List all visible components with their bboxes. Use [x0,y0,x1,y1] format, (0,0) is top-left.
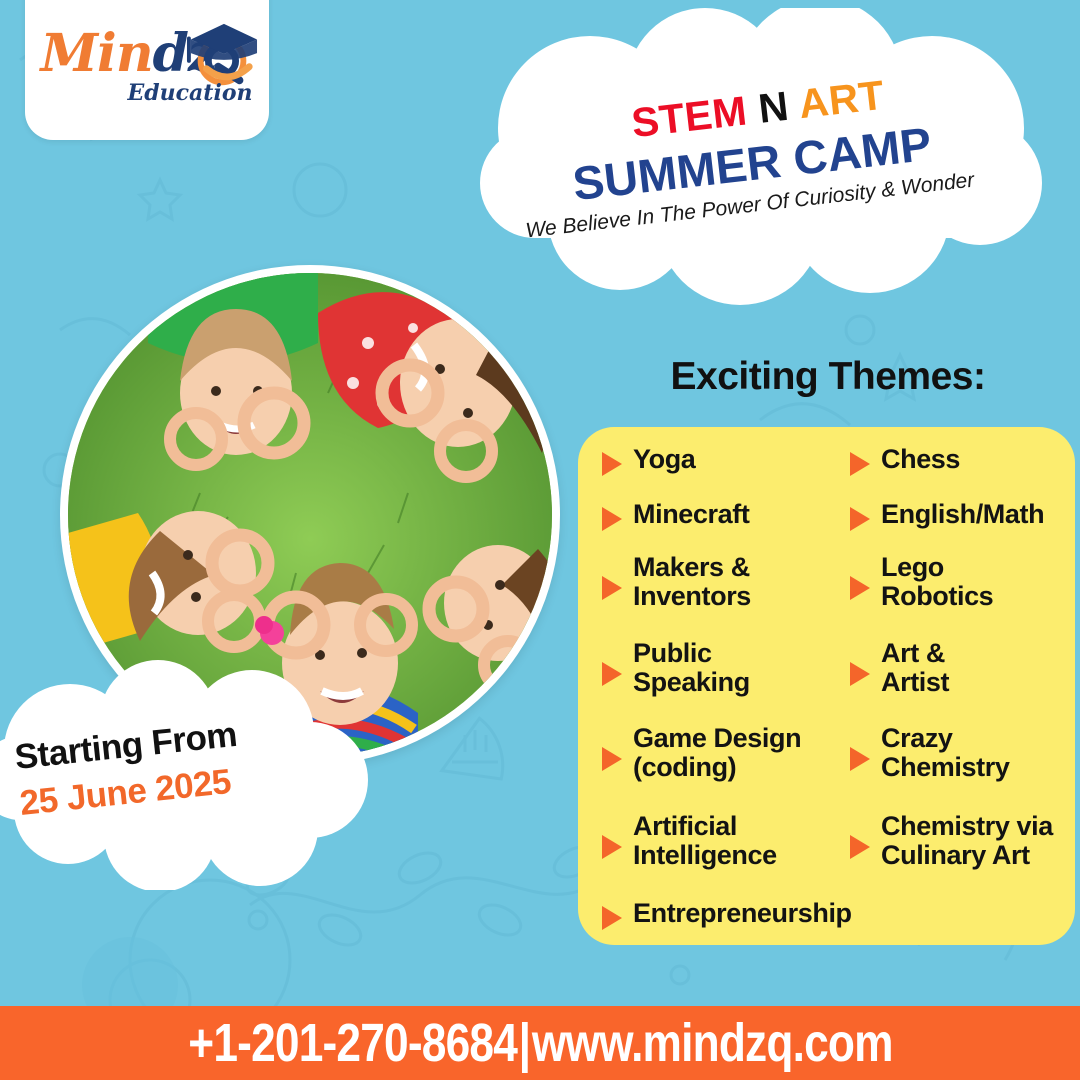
theme-label: Crazy Chemistry [881,724,1009,782]
theme-label: Yoga [633,445,695,474]
themes-right-column: Chess English/Math Lego Robotics Art & A… [850,427,1068,945]
triangle-bullet-icon [602,507,622,531]
footer-separator: | [517,1013,532,1073]
start-date-cloud: Starting From 25 June 2025 [0,660,380,890]
contact-footer-bar: +1-201-270-8684|www.mindzq.com [0,1006,1080,1080]
triangle-bullet-icon [602,747,622,771]
triangle-bullet-icon [602,452,622,476]
theme-item-artificial-intelligence[interactable]: Artificial Intelligence [602,812,777,870]
theme-item-crazy-chemistry[interactable]: Crazy Chemistry [850,724,1009,782]
theme-item-makers-inventors[interactable]: Makers & Inventors [602,553,751,611]
theme-label: Chemistry via Culinary Art [881,812,1053,870]
triangle-bullet-icon [850,507,870,531]
theme-label: Entrepreneurship [633,899,852,928]
theme-label: Lego Robotics [881,553,993,611]
website-url[interactable]: www.mindzq.com [531,1013,892,1073]
theme-label: Game Design (coding) [633,724,801,782]
triangle-bullet-icon [850,452,870,476]
theme-item-chemistry-culinary-art[interactable]: Chemistry via Culinary Art [850,812,1053,870]
theme-item-lego-robotics[interactable]: Lego Robotics [850,553,993,611]
theme-label: Art & Artist [881,639,949,697]
themes-heading: Exciting Themes: [583,355,1073,399]
themes-panel: Yoga Minecraft Makers & Inventors Public… [578,427,1075,945]
triangle-bullet-icon [850,576,870,600]
theme-item-minecraft[interactable]: Minecraft [602,500,749,531]
triangle-bullet-icon [602,906,622,930]
contact-footer-text: +1-201-270-8684|www.mindzq.com [188,1012,892,1074]
theme-label: Chess [881,445,960,474]
headline-cloud: STEM N ART SUMMER CAMP We Believe In The… [440,8,1060,308]
headline-text-wrap: STEM N ART SUMMER CAMP We Believe In The… [440,8,1060,308]
theme-label: English/Math [881,500,1044,529]
theme-item-chess[interactable]: Chess [850,445,960,476]
theme-item-english-math[interactable]: English/Math [850,500,1044,531]
logo-wordmark-part1: Min [41,23,153,84]
triangle-bullet-icon [602,662,622,686]
theme-label: Public Speaking [633,639,750,697]
headline-word-n: N [756,83,791,132]
theme-item-public-speaking[interactable]: Public Speaking [602,639,750,697]
theme-item-entrepreneurship[interactable]: Entrepreneurship [602,899,852,930]
triangle-bullet-icon [850,835,870,859]
triangle-bullet-icon [850,662,870,686]
triangle-bullet-icon [602,835,622,859]
theme-label: Artificial Intelligence [633,812,777,870]
brand-logo-card[interactable]: Mindz Education [25,0,269,140]
theme-item-yoga[interactable]: Yoga [602,445,695,476]
theme-item-game-design[interactable]: Game Design (coding) [602,724,801,782]
theme-label: Makers & Inventors [633,553,751,611]
theme-label: Minecraft [633,500,749,529]
phone-number[interactable]: +1-201-270-8684 [188,1013,517,1073]
triangle-bullet-icon [850,747,870,771]
themes-left-column: Yoga Minecraft Makers & Inventors Public… [592,427,850,945]
poster-root: Mindz Education [0,0,1080,1080]
theme-item-art-artist[interactable]: Art & Artist [850,639,949,697]
logo-subtitle: Education [128,80,253,106]
triangle-bullet-icon [602,576,622,600]
logo-inner: Mindz Education [35,18,260,126]
headline-word-art: ART [796,72,886,127]
